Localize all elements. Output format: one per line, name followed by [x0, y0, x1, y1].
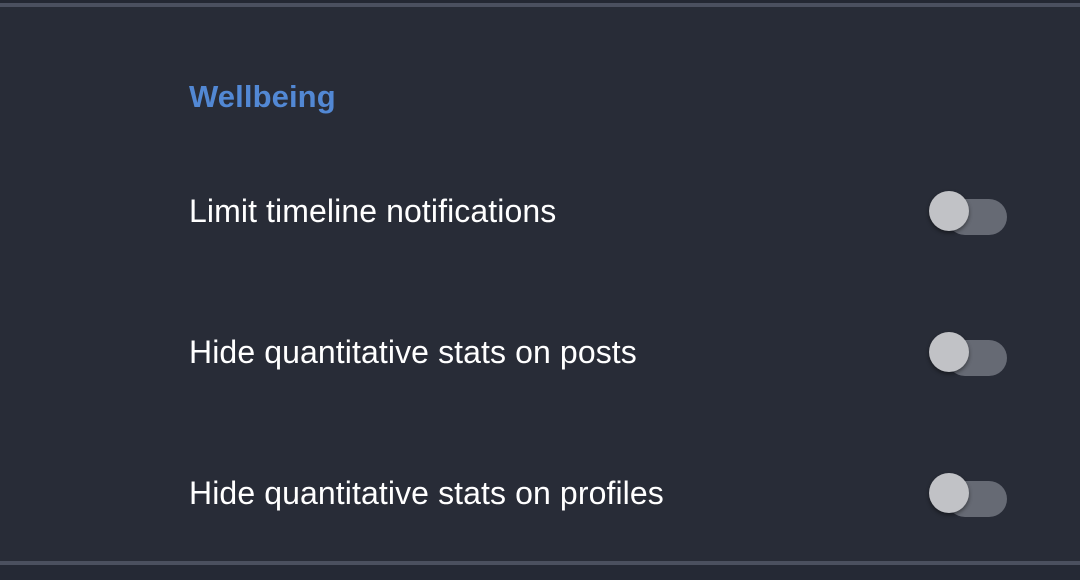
toggle-switch-hide-stats-profiles[interactable] [929, 471, 1007, 515]
setting-row-hide-stats-posts[interactable]: Hide quantitative stats on posts [189, 324, 1007, 380]
setting-label: Hide quantitative stats on posts [189, 334, 637, 371]
section-header-wellbeing: Wellbeing [189, 79, 336, 115]
setting-label: Limit timeline notifications [189, 193, 556, 230]
toggle-switch-limit-timeline-notifications[interactable] [929, 189, 1007, 233]
toggle-switch-hide-stats-posts[interactable] [929, 330, 1007, 374]
setting-row-limit-timeline-notifications[interactable]: Limit timeline notifications [189, 183, 1007, 239]
setting-label: Hide quantitative stats on profiles [189, 475, 664, 512]
settings-screen: Wellbeing Limit timeline notifications H… [0, 0, 1080, 580]
toggle-thumb [929, 191, 969, 231]
setting-row-hide-stats-profiles[interactable]: Hide quantitative stats on profiles [189, 465, 1007, 521]
bottom-edge-shade [0, 565, 1080, 580]
toggle-thumb [929, 473, 969, 513]
toggle-thumb [929, 332, 969, 372]
wellbeing-section: Wellbeing Limit timeline notifications H… [0, 7, 1080, 561]
